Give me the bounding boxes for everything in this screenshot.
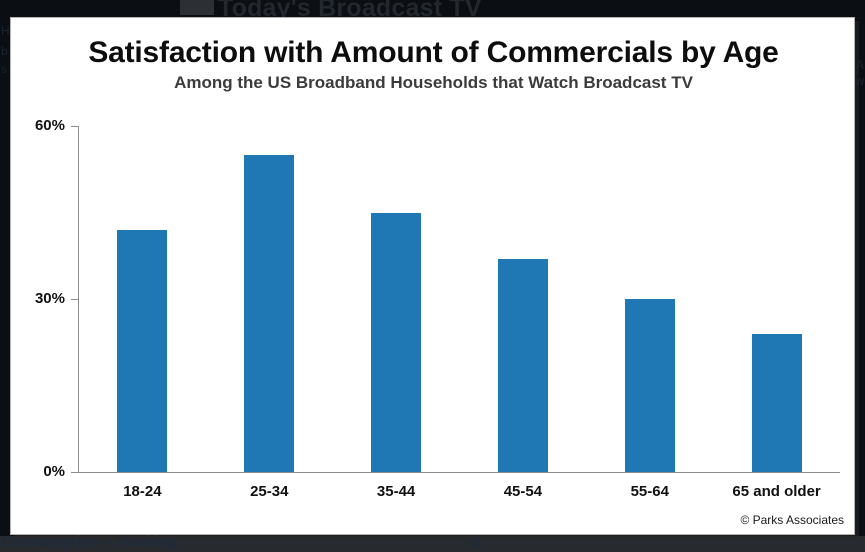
bar [752, 334, 802, 472]
background-right-fragment-2: w [855, 74, 864, 88]
y-tick-mark [71, 472, 78, 473]
y-tick-label: 60% [35, 117, 65, 134]
y-tick-label: 0% [43, 463, 65, 480]
x-axis-line [78, 472, 840, 473]
chart-panel: Satisfaction with Amount of Commercials … [10, 17, 855, 535]
bar [371, 213, 421, 473]
bar [117, 230, 167, 472]
x-tick-label: 65 and older [714, 483, 839, 500]
bar [498, 259, 548, 472]
y-tick-mark [71, 299, 78, 300]
bar [625, 299, 675, 472]
bar [244, 155, 294, 472]
x-tick-label: 35-44 [334, 483, 459, 500]
y-tick-mark [71, 126, 78, 127]
copyright-notice: © Parks Associates [740, 513, 844, 527]
background-legend-swatch [180, 0, 214, 15]
x-tick-label: 18-24 [80, 483, 205, 500]
background-left-fragment-3: s [1, 62, 7, 76]
background-right-fragment-1: A [856, 58, 864, 72]
y-tick-label: 30% [35, 290, 65, 307]
x-tick-label: 25-34 [207, 483, 332, 500]
x-tick-label: 55-64 [587, 483, 712, 500]
x-tick-label: 45-54 [460, 483, 585, 500]
background-left-fragment-1: H [1, 24, 10, 38]
y-axis-line [78, 126, 79, 473]
background-left-fragment-2: b [1, 44, 8, 58]
plot-area: 0%30%60% 18-2425-3435-4445-5455-6465 and… [11, 18, 856, 536]
